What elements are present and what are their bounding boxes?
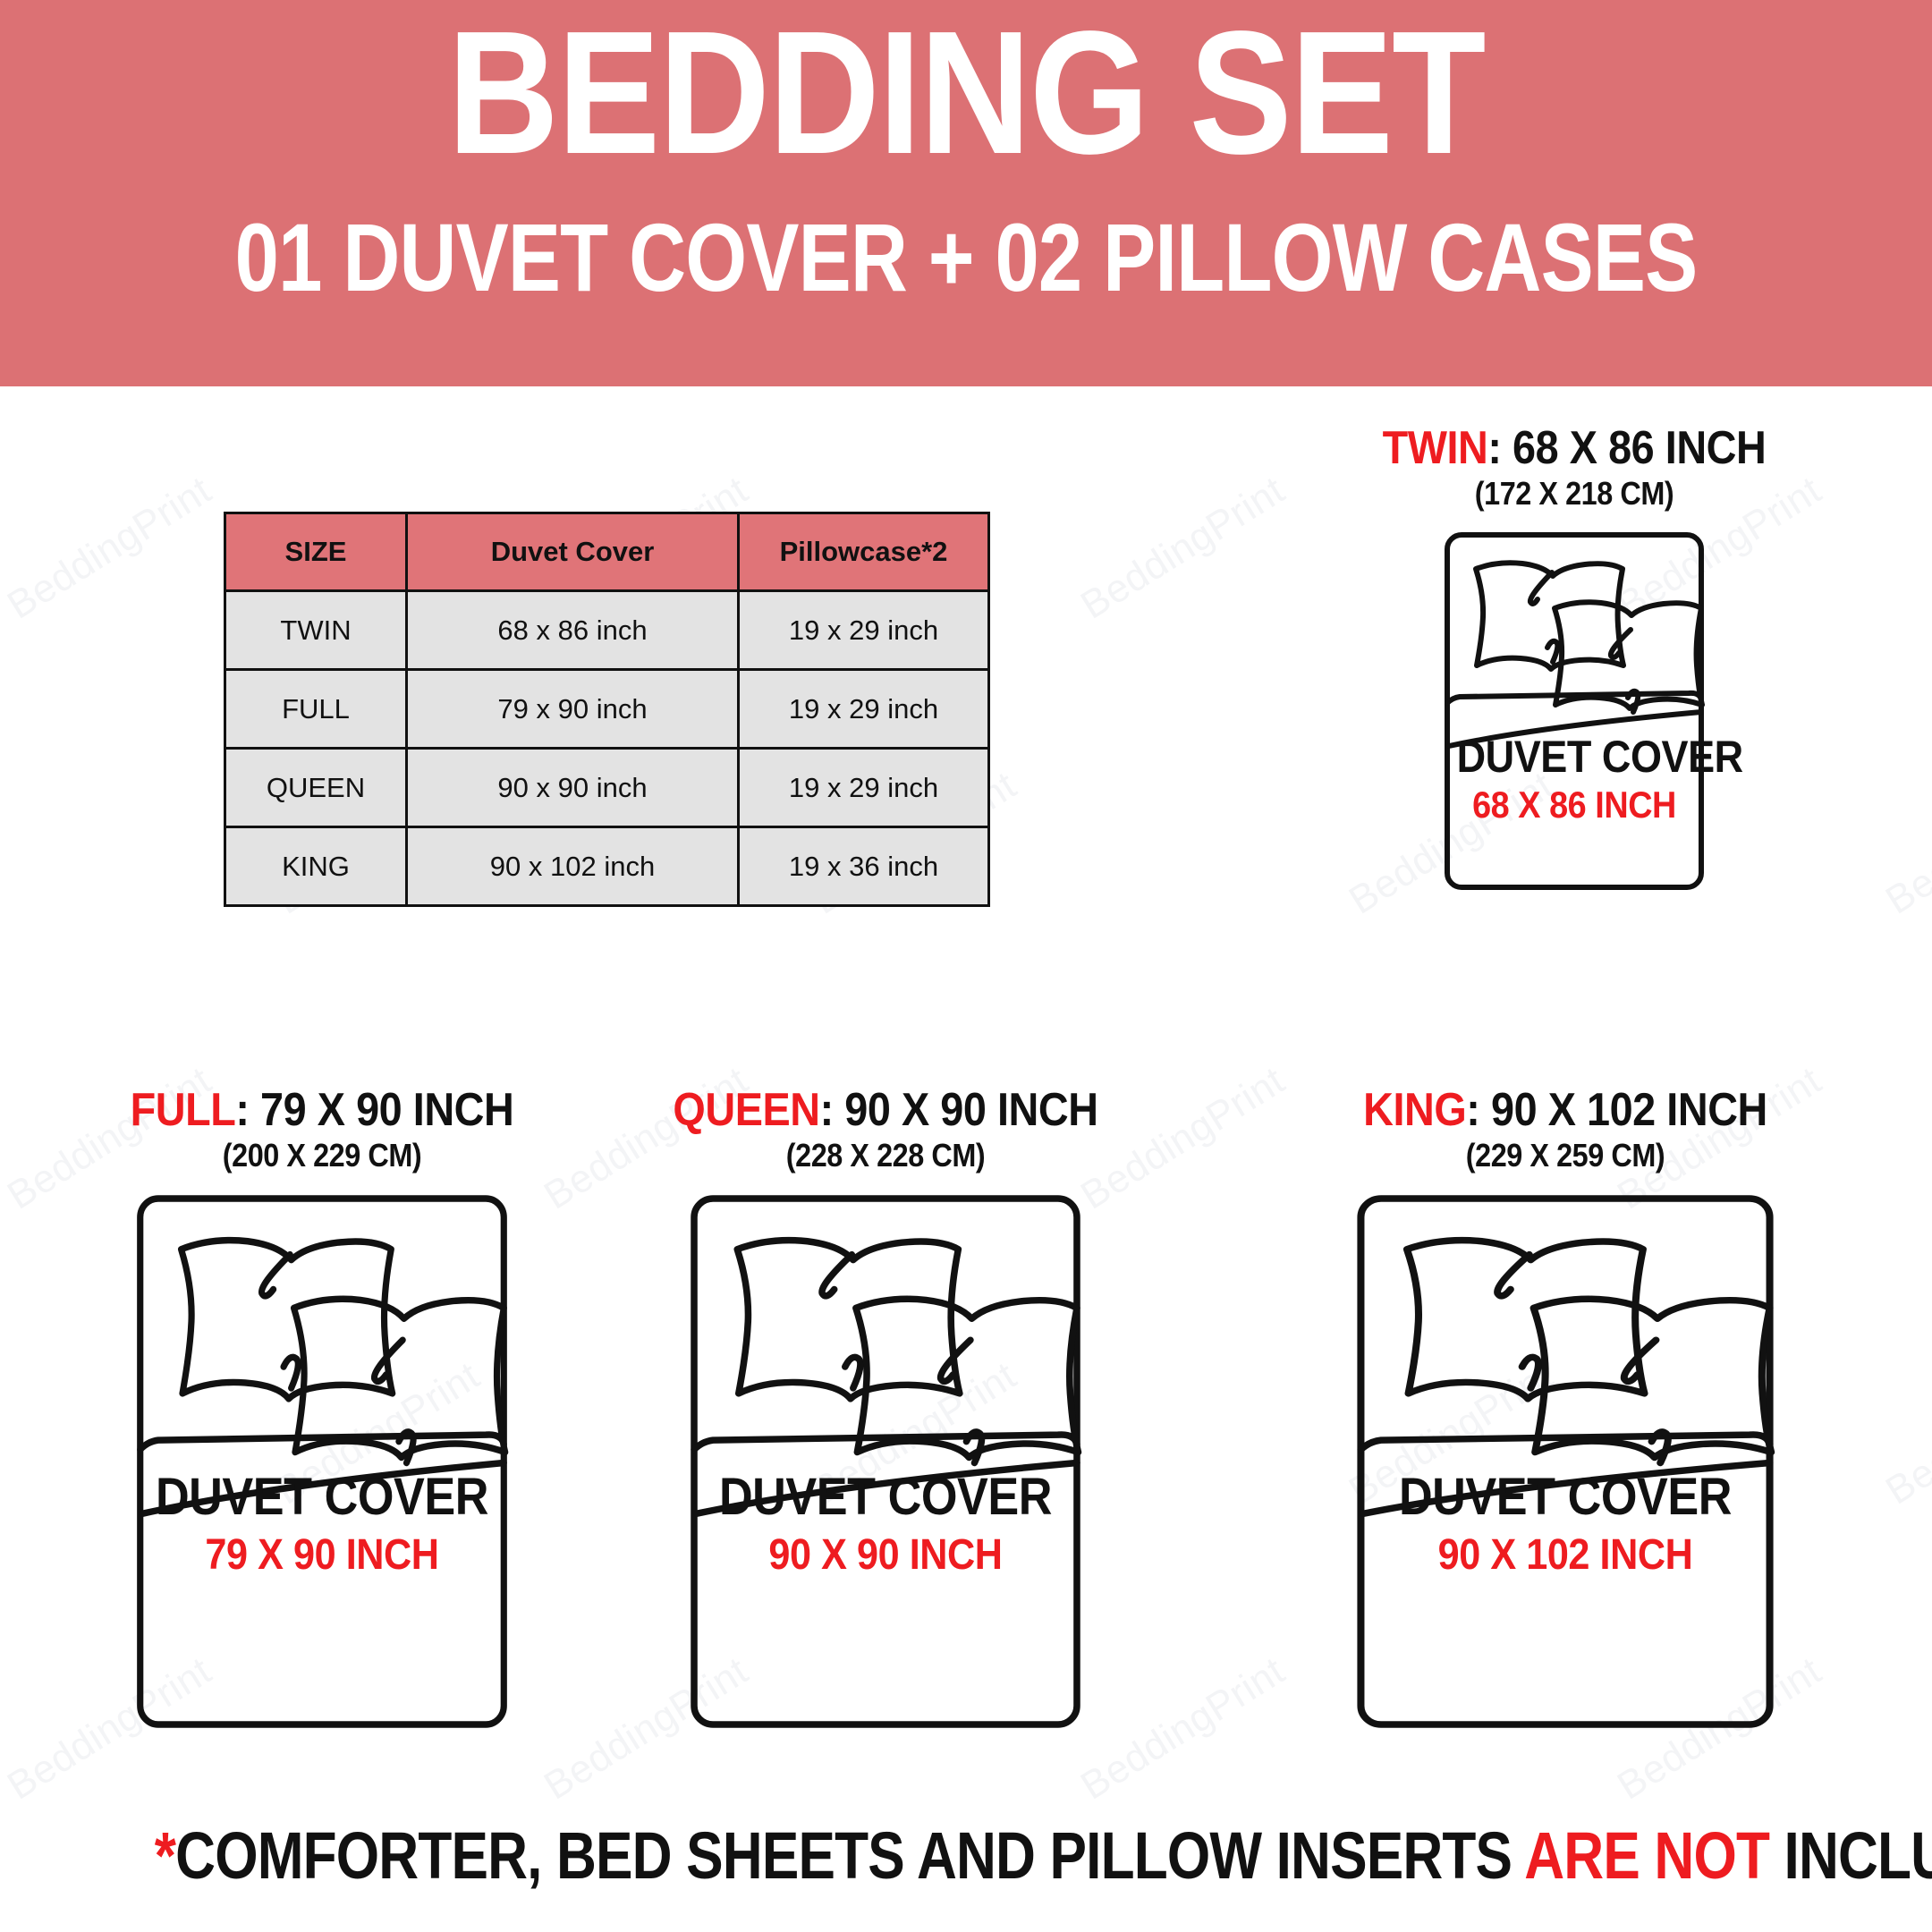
watermark-text: BeddingPrint [1878,1353,1932,1513]
pillow-left-notch-top [261,1255,290,1296]
cell-duvet: 68 x 86 inch [407,591,739,670]
footer-text-before: COMFORTER, BED SHEETS AND PILLOW INSERTS [175,1818,1524,1893]
bed-label-king-main: DUVET COVER [1377,1469,1755,1526]
pillow-left-notch-top [1497,1255,1529,1296]
diagram-king-title: KING: 90 X 102 INCH [1284,1084,1847,1136]
pillow-left-notch-bottom [1547,641,1557,662]
diagram-king-metric: (229 X 259 CM) [1284,1136,1847,1175]
cell-size: TWIN [225,591,407,670]
diagram-twin-size-word: TWIN [1383,422,1488,474]
diagram-full-dimensions: : 79 X 90 INCH [235,1084,513,1136]
bed-outline [1447,535,1701,887]
cell-duvet: 79 x 90 inch [407,670,739,749]
diagram-full-size-word: FULL [131,1084,236,1136]
column-header-pillow: Pillowcase*2 [739,513,989,591]
pillow-left-notch-top [822,1255,852,1296]
pillow-left [1407,1241,1645,1399]
bed-label-twin-size: 68 X 86 INCH [1457,784,1692,826]
pillow-left-notch-bottom [284,1357,298,1388]
cell-size: KING [225,827,407,906]
bed-outline [1360,1199,1769,1724]
table-row: TWIN 68 x 86 inch 19 x 29 inch [225,591,989,670]
page-title: BEDDING SET [116,5,1817,181]
diagram-full: FULL: 79 X 90 INCH (200 X 229 CM) DUVET … [36,1084,608,1730]
diagram-twin-metric: (172 X 218 CM) [1268,474,1880,513]
column-header-size: SIZE [225,513,407,591]
diagram-king-size-word: KING [1363,1084,1466,1136]
table-row: KING 90 x 102 inch 19 x 36 inch [225,827,989,906]
diagram-twin-dimensions: : 68 X 86 INCH [1487,422,1766,474]
bed-illustration-queen: DUVET COVER 90 X 90 INCH [689,1193,1082,1730]
bed-svg-king [1355,1193,1775,1730]
bed-label-queen-main: DUVET COVER [708,1469,1063,1526]
bed-svg-full [135,1193,509,1730]
diagram-full-title: FULL: 79 X 90 INCH [64,1084,580,1136]
table-row: FULL 79 x 90 inch 19 x 29 inch [225,670,989,749]
footer-emphasis: ARE NOT [1524,1818,1769,1893]
pillow-left-notch-bottom [845,1357,860,1388]
diagram-queen-dimensions: : 90 X 90 INCH [820,1084,1098,1136]
table-row: QUEEN 90 x 90 inch 19 x 29 inch [225,749,989,827]
cell-pillow: 19 x 29 inch [739,591,989,670]
bed-outline [694,1199,1077,1724]
diagram-queen: QUEEN: 90 X 90 INCH (228 X 228 CM) DUVET… [590,1084,1181,1730]
cell-pillow: 19 x 29 inch [739,749,989,827]
bed-illustration-twin: DUVET COVER 68 X 86 INCH [1444,531,1705,891]
bed-svg-twin [1444,531,1705,891]
bed-illustration-king: DUVET COVER 90 X 102 INCH [1355,1193,1775,1730]
size-chart-table: SIZE Duvet Cover Pillowcase*2 TWIN 68 x … [224,512,990,907]
bed-outline [140,1199,504,1724]
page-subtitle: 01 DUVET COVER + 02 PILLOW CASES [174,208,1758,308]
diagram-twin: TWIN: 68 X 86 INCH (172 X 218 CM) DUVET … [1234,422,1914,891]
cell-size: QUEEN [225,749,407,827]
column-header-duvet: Duvet Cover [407,513,739,591]
bed-illustration-full: DUVET COVER 79 X 90 INCH [135,1193,509,1730]
cell-size: FULL [225,670,407,749]
pillow-left-notch-bottom [1522,1357,1538,1388]
diagram-queen-metric: (228 X 228 CM) [620,1136,1151,1175]
table-header-row: SIZE Duvet Cover Pillowcase*2 [225,513,989,591]
pillow-left [182,1241,393,1399]
pillow-left [737,1241,960,1399]
cell-duvet: 90 x 102 inch [407,827,739,906]
bed-label-queen-size: 90 X 90 INCH [708,1531,1063,1580]
diagram-twin-title: TWIN: 68 X 86 INCH [1268,422,1880,474]
footer-asterisk: * [155,1818,175,1893]
diagram-king-dimensions: : 90 X 102 INCH [1466,1084,1767,1136]
diagram-queen-title: QUEEN: 90 X 90 INCH [620,1084,1151,1136]
bed-label-full-main: DUVET COVER [154,1469,490,1526]
footer-text-after: INCLUDED [1769,1818,1932,1893]
bed-label-full-size: 79 X 90 INCH [154,1531,490,1580]
diagram-king: KING: 90 X 102 INCH (229 X 259 CM) DUVET… [1252,1084,1878,1730]
header-banner: BEDDING SET 01 DUVET COVER + 02 PILLOW C… [0,0,1932,386]
bed-label-king-size: 90 X 102 INCH [1377,1531,1755,1580]
diagram-full-metric: (200 X 229 CM) [64,1136,580,1175]
bed-svg-queen [689,1193,1082,1730]
diagram-queen-size-word: QUEEN [673,1084,819,1136]
footer-disclaimer: *COMFORTER, BED SHEETS AND PILLOW INSERT… [155,1818,1777,1894]
pillow-left-notch-top [1530,572,1552,604]
cell-pillow: 19 x 36 inch [739,827,989,906]
watermark-text: BeddingPrint [0,468,219,628]
bed-label-twin-main: DUVET COVER [1457,732,1692,782]
cell-duvet: 90 x 90 inch [407,749,739,827]
cell-pillow: 19 x 29 inch [739,670,989,749]
pillow-left [1476,563,1623,669]
